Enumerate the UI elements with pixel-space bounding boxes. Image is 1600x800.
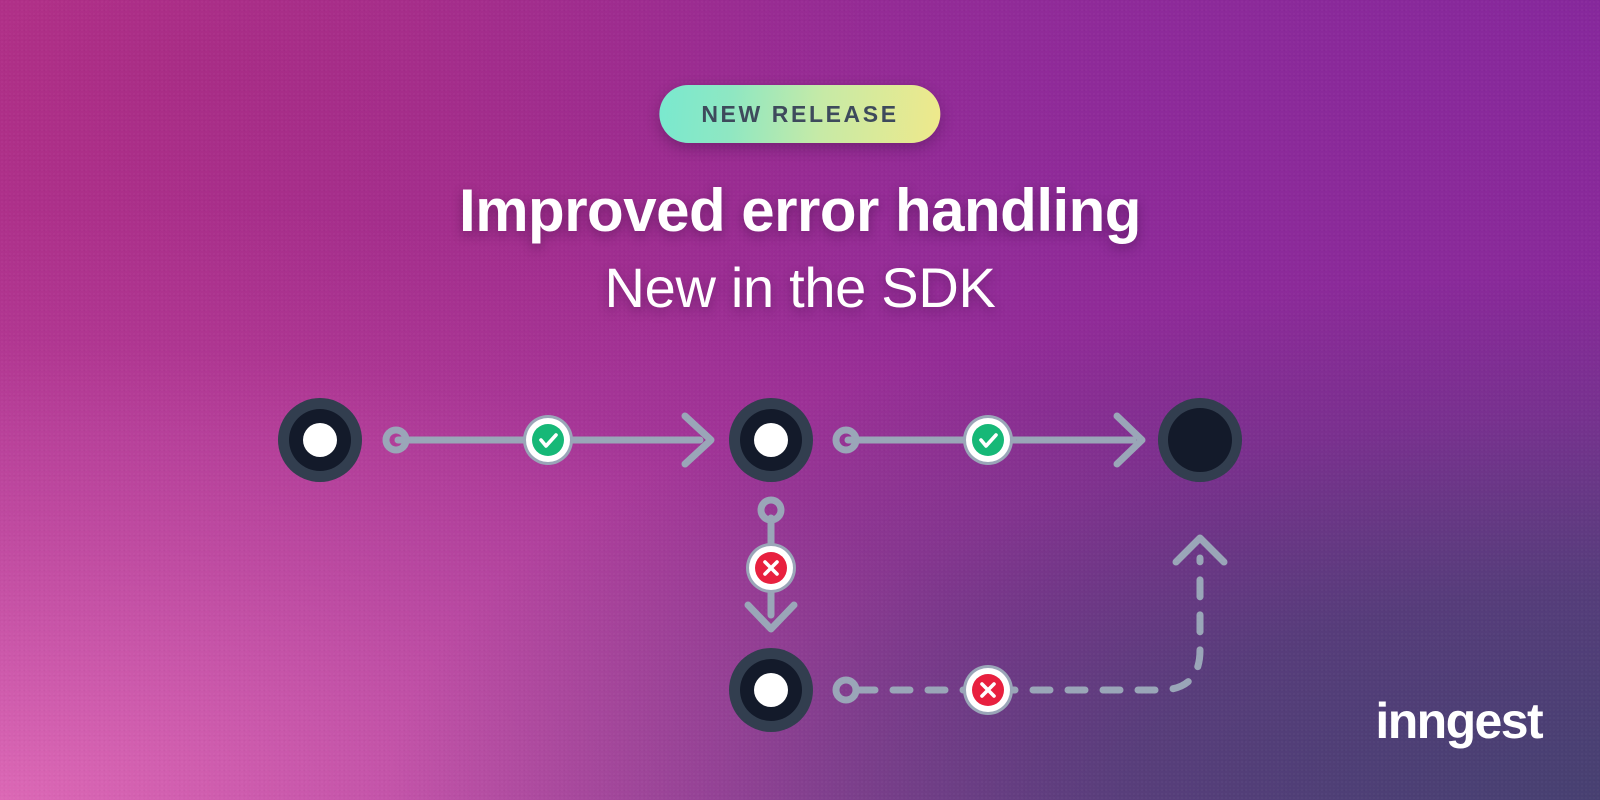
new-release-badge-label: NEW RELEASE xyxy=(701,101,898,128)
page-title: Improved error handling xyxy=(0,176,1600,245)
page-subtitle: New in the SDK xyxy=(0,255,1600,320)
release-announcement-graphic: NEW RELEASE Improved error handling New … xyxy=(0,0,1600,800)
new-release-badge: NEW RELEASE xyxy=(659,85,940,143)
inngest-logo: inngest xyxy=(1375,692,1542,750)
